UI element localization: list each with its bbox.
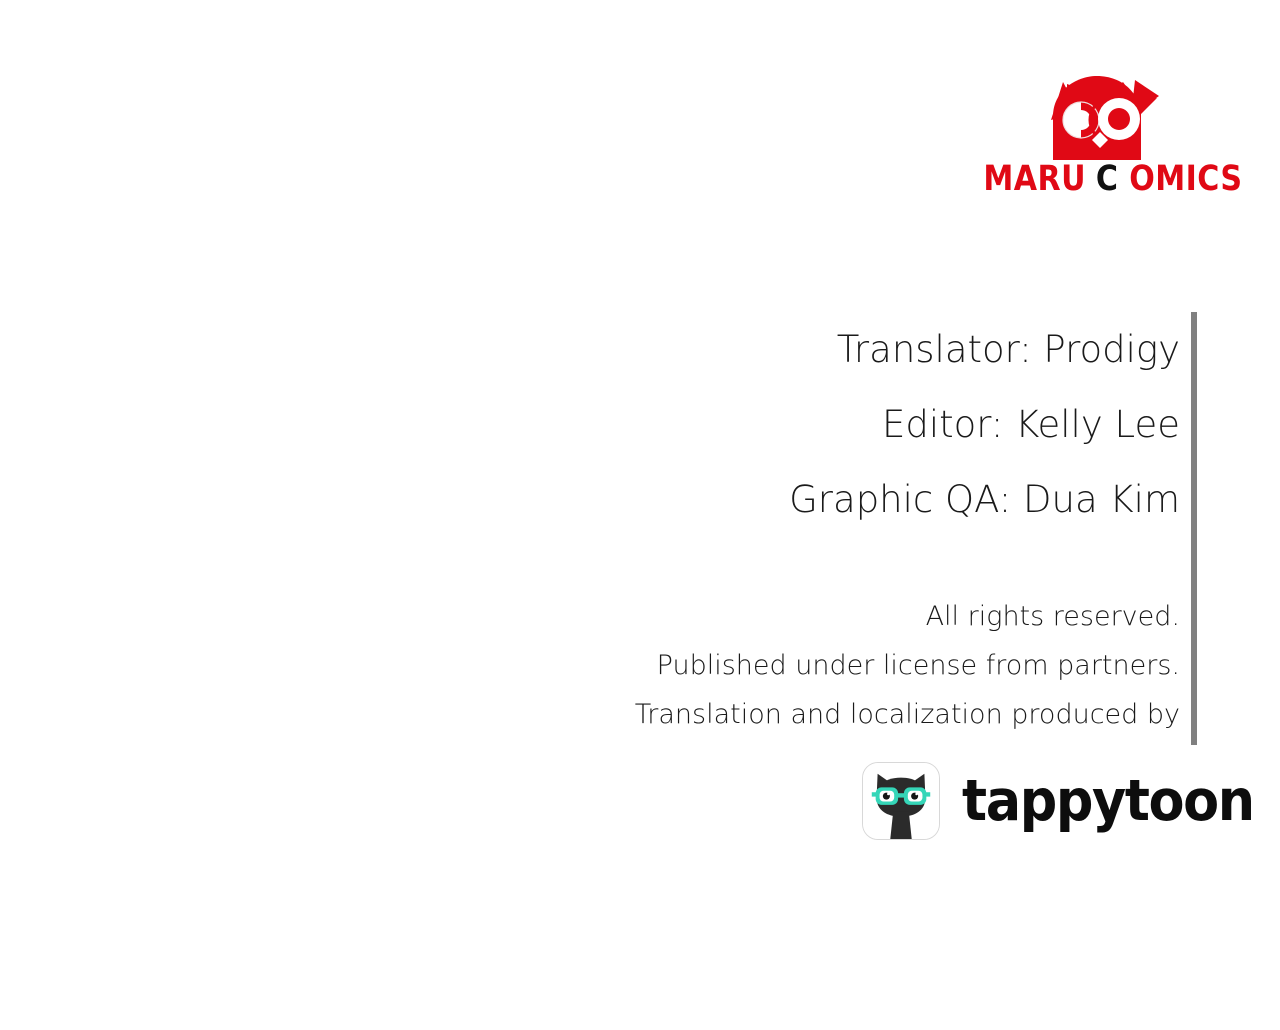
legal-block: All rights reserved. Published under lic… (420, 592, 1180, 739)
credits-page: MARUCOMICS Translator: Prodigy Editor: K… (0, 0, 1280, 1030)
maru-comics-logo: MARUCOMICS (975, 72, 1200, 197)
maru-comics-wordmark: MARUCOMICS (975, 160, 1200, 198)
wordmark-c: C (1096, 160, 1119, 198)
owl-icon (1023, 72, 1163, 162)
credit-translator: Translator: Prodigy (480, 312, 1180, 387)
wordmark-maru: MARU (983, 160, 1086, 198)
credit-editor: Editor: Kelly Lee (480, 387, 1180, 462)
credits-block: Translator: Prodigy Editor: Kelly Lee Gr… (480, 312, 1180, 537)
tappytoon-logo: tappytoon (862, 760, 1194, 842)
legal-localization: Translation and localization produced by (420, 690, 1180, 739)
legal-license: Published under license from partners. (420, 641, 1180, 690)
tappytoon-app-tile (862, 762, 940, 840)
legal-rights: All rights reserved. (420, 592, 1180, 641)
credits-divider-rule (1191, 312, 1197, 745)
credit-graphic-qa: Graphic QA: Dua Kim (480, 462, 1180, 537)
wordmark-omics: OMICS (1130, 160, 1243, 198)
cat-with-glasses-icon (863, 763, 939, 839)
tappytoon-wordmark: tappytoon (962, 773, 1254, 830)
